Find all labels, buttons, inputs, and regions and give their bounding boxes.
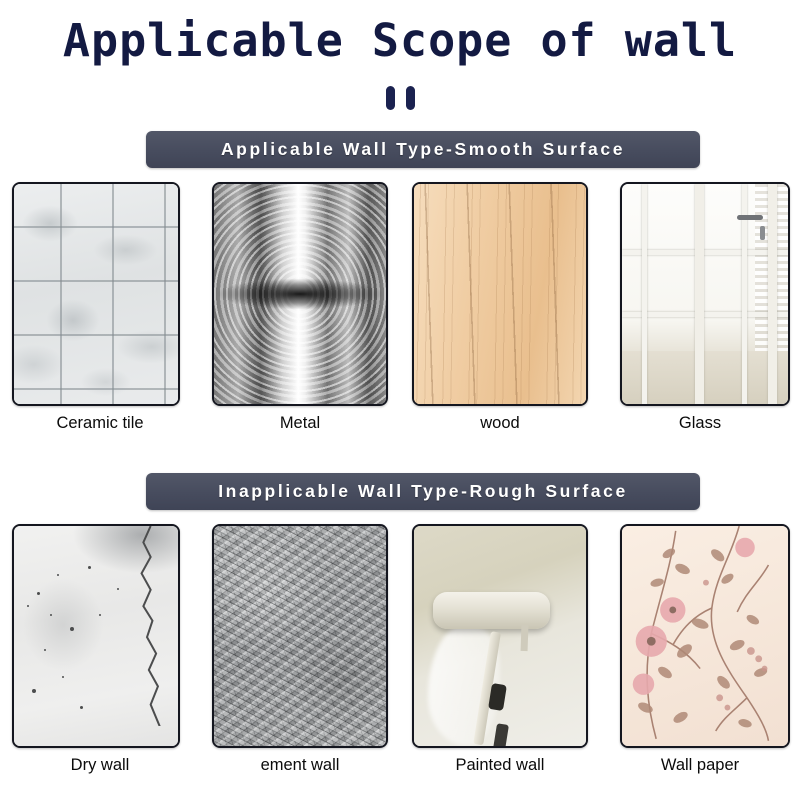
sample-cell-dry-wall: Dry wall xyxy=(0,524,200,748)
sample-row-rough: Dry wall ement wall Painted wall xyxy=(0,524,800,748)
thumbnail-metal xyxy=(212,182,388,406)
caption-ceramic-tile: Ceramic tile xyxy=(0,414,200,433)
thumbnail-painted-wall xyxy=(412,524,588,748)
thumbnail-dry-wall xyxy=(12,524,180,748)
roller-grip-icon xyxy=(488,683,507,711)
wall-speck-icon xyxy=(44,649,46,651)
roller-arm-icon xyxy=(520,625,528,652)
caption-wood: wood xyxy=(400,414,600,433)
caption-metal: Metal xyxy=(200,414,400,433)
banner-applicable-smooth-surface: Applicable Wall Type-Smooth Surface xyxy=(146,131,700,168)
quote-mark-decoration-icon xyxy=(0,86,800,110)
thumbnail-glass xyxy=(620,182,790,406)
caption-dry-wall: Dry wall xyxy=(0,756,200,775)
glass-door-photo-icon xyxy=(622,184,788,404)
door-frame-icon xyxy=(695,184,704,404)
door-frame-icon xyxy=(768,184,777,404)
cracked-drywall-photo-icon xyxy=(14,526,178,746)
wood-grain-texture-icon xyxy=(414,184,586,404)
banner-inapplicable-rough-surface: Inapplicable Wall Type-Rough Surface xyxy=(146,473,700,510)
ceramic-tile-texture-icon xyxy=(14,184,178,404)
brushed-metal-texture-icon xyxy=(214,184,386,404)
quote-bar-left-icon xyxy=(386,86,395,110)
floral-wallpaper-texture-icon xyxy=(622,526,788,746)
door-lock-icon xyxy=(760,226,765,240)
page-title: Applicable Scope of wall xyxy=(0,14,800,67)
caption-glass: Glass xyxy=(600,414,800,433)
thumbnail-wall-paper xyxy=(620,524,790,748)
wall-crack-icon xyxy=(14,526,178,726)
wall-speck-icon xyxy=(37,592,40,595)
cement-stucco-texture-icon xyxy=(214,526,386,746)
wall-speck-icon xyxy=(32,689,36,693)
wall-speck-icon xyxy=(62,676,64,678)
thumbnail-wood xyxy=(412,182,588,406)
thumbnail-cement-wall xyxy=(212,524,388,748)
sample-cell-cement-wall: ement wall xyxy=(200,524,400,748)
door-handle-icon xyxy=(737,215,763,220)
sample-cell-glass: Glass xyxy=(600,182,800,406)
thumbnail-ceramic-tile xyxy=(12,182,180,406)
roller-grip-lower-icon xyxy=(493,723,509,748)
quote-bar-right-icon xyxy=(406,86,415,110)
mullion-vertical-icon xyxy=(642,184,647,404)
sample-cell-wall-paper: Wall paper xyxy=(600,524,800,748)
wall-speck-icon xyxy=(88,566,91,569)
caption-painted-wall: Painted wall xyxy=(400,756,600,775)
sample-row-smooth: Ceramic tile Metal wood xyxy=(0,182,800,406)
sample-cell-metal: Metal xyxy=(200,182,400,406)
sample-cell-wood: wood xyxy=(400,182,600,406)
caption-cement-wall: ement wall xyxy=(200,756,400,775)
sample-cell-ceramic-tile: Ceramic tile xyxy=(0,182,200,406)
paint-roller-icon xyxy=(433,592,550,629)
sample-cell-painted-wall: Painted wall xyxy=(400,524,600,748)
floral-pattern-icon xyxy=(622,526,788,741)
paint-roller-photo-icon xyxy=(414,526,586,746)
caption-wall-paper: Wall paper xyxy=(600,756,800,775)
wall-speck-icon xyxy=(70,627,74,631)
